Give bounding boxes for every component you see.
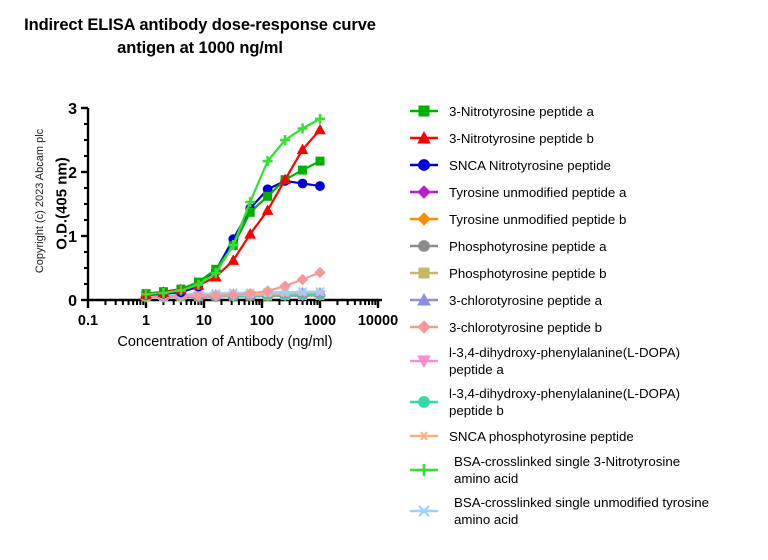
legend-item[interactable]: Tyrosine unmodified peptide a bbox=[404, 179, 768, 205]
legend-item[interactable]: Phosphotyrosine peptide a bbox=[404, 233, 768, 259]
x-tick-label: 1 bbox=[142, 313, 150, 329]
data-point bbox=[418, 464, 430, 476]
y-tick-label: 3 bbox=[68, 101, 77, 118]
legend-item-label: Tyrosine unmodified peptide b bbox=[446, 211, 626, 228]
data-point bbox=[418, 321, 430, 333]
data-point bbox=[298, 275, 308, 285]
data-point bbox=[418, 213, 430, 225]
legend-item[interactable]: l-3,4-dihydroxy-phenylalanine(L-DOPA) pe… bbox=[404, 341, 768, 381]
data-point bbox=[418, 186, 430, 198]
legend-marker-icon bbox=[404, 262, 446, 284]
series-line bbox=[146, 119, 320, 294]
x-tick-label: 10000 bbox=[358, 313, 398, 329]
series-0 bbox=[142, 157, 324, 297]
legend-marker-icon bbox=[404, 350, 446, 372]
legend-item[interactable]: Phosphotyrosine peptide b bbox=[404, 260, 768, 286]
legend-marker-icon bbox=[404, 127, 446, 149]
legend-marker-icon bbox=[404, 500, 446, 522]
series-layer bbox=[141, 114, 325, 302]
plot-area: 01230.1110100100010000 bbox=[0, 0, 400, 330]
legend-marker-icon bbox=[404, 235, 446, 257]
data-point bbox=[264, 192, 272, 200]
legend-item-label: BSA-crosslinked single 3-Nitrotyrosine a… bbox=[446, 453, 680, 487]
y-tick-label: 2 bbox=[68, 165, 77, 182]
legend-marker-icon bbox=[404, 316, 446, 338]
legend-item-label: 3-chlorotyrosine peptide a bbox=[446, 292, 602, 309]
legend-marker-icon bbox=[404, 208, 446, 230]
data-point bbox=[419, 160, 430, 171]
chart-page: Indirect ELISA antibody dose-response cu… bbox=[0, 0, 768, 560]
legend-item-label: Tyrosine unmodified peptide a bbox=[446, 184, 626, 201]
x-tick-label: 100 bbox=[250, 313, 274, 329]
legend-item-label: SNCA Nitrotyrosine peptide bbox=[446, 157, 611, 174]
data-point bbox=[316, 182, 325, 191]
legend-item[interactable]: l-3,4-dihydroxy-phenylalanine(L-DOPA) pe… bbox=[404, 382, 768, 422]
legend-item-label: BSA-crosslinked single unmodified tyrosi… bbox=[446, 494, 709, 528]
series-12 bbox=[141, 114, 325, 299]
data-point bbox=[263, 205, 273, 214]
series-line bbox=[146, 130, 320, 294]
legend-item[interactable]: Tyrosine unmodified peptide b bbox=[404, 206, 768, 232]
legend-marker-icon bbox=[404, 154, 446, 176]
legend-item-label: Phosphotyrosine peptide b bbox=[446, 265, 606, 282]
legend-item[interactable]: 3-chlorotyrosine peptide b bbox=[404, 314, 768, 340]
x-tick-label: 0.1 bbox=[78, 313, 98, 329]
data-point bbox=[419, 241, 430, 252]
legend-marker-icon bbox=[404, 100, 446, 122]
legend-item-label: Phosphotyrosine peptide a bbox=[446, 238, 606, 255]
y-tick-label: 1 bbox=[68, 229, 77, 246]
legend-marker-icon bbox=[404, 289, 446, 311]
legend-marker-icon bbox=[404, 181, 446, 203]
legend-item[interactable]: 3-Nitrotyrosine peptide b bbox=[404, 125, 768, 151]
data-point bbox=[419, 432, 429, 440]
x-tick-label: 1000 bbox=[304, 313, 336, 329]
y-tick-label: 0 bbox=[68, 293, 77, 310]
legend-marker-icon bbox=[404, 391, 446, 413]
legend-item-label: 3-Nitrotyrosine peptide b bbox=[446, 130, 594, 147]
data-point bbox=[316, 157, 324, 165]
legend-item[interactable]: 3-chlorotyrosine peptide a bbox=[404, 287, 768, 313]
data-point bbox=[419, 268, 429, 278]
legend-item-label: 3-chlorotyrosine peptide b bbox=[446, 319, 602, 336]
legend-item[interactable]: SNCA phosphotyrosine peptide bbox=[404, 423, 768, 449]
series-1 bbox=[141, 125, 325, 298]
x-tick-label: 10 bbox=[196, 313, 212, 329]
legend-item-label: l-3,4-dihydroxy-phenylalanine(L-DOPA) pe… bbox=[446, 344, 680, 378]
data-point bbox=[299, 166, 307, 174]
axis-layer bbox=[81, 108, 382, 308]
data-point bbox=[315, 267, 325, 277]
legend-marker-icon bbox=[404, 459, 446, 481]
data-point bbox=[315, 114, 325, 124]
legend-item-label: l-3,4-dihydroxy-phenylalanine(L-DOPA) pe… bbox=[446, 385, 680, 419]
legend-item[interactable]: SNCA Nitrotyrosine peptide bbox=[404, 152, 768, 178]
data-point bbox=[315, 125, 325, 134]
legend-item[interactable]: BSA-crosslinked single 3-Nitrotyrosine a… bbox=[404, 450, 768, 490]
legend-item-label: SNCA phosphotyrosine peptide bbox=[446, 428, 634, 445]
legend-item-label: 3-Nitrotyrosine peptide a bbox=[446, 103, 594, 120]
x-axis-label: Concentration of Antibody (ng/ml) bbox=[60, 334, 390, 350]
data-point bbox=[298, 179, 307, 188]
legend-item[interactable]: 3-Nitrotyrosine peptide a bbox=[404, 98, 768, 124]
data-point bbox=[419, 397, 430, 408]
legend-item[interactable]: BSA-crosslinked single unmodified tyrosi… bbox=[404, 491, 768, 531]
data-point bbox=[419, 106, 429, 116]
legend-marker-icon bbox=[404, 425, 446, 447]
chart-legend: 3-Nitrotyrosine peptide a3-Nitrotyrosine… bbox=[404, 98, 768, 532]
series-line bbox=[146, 161, 320, 293]
